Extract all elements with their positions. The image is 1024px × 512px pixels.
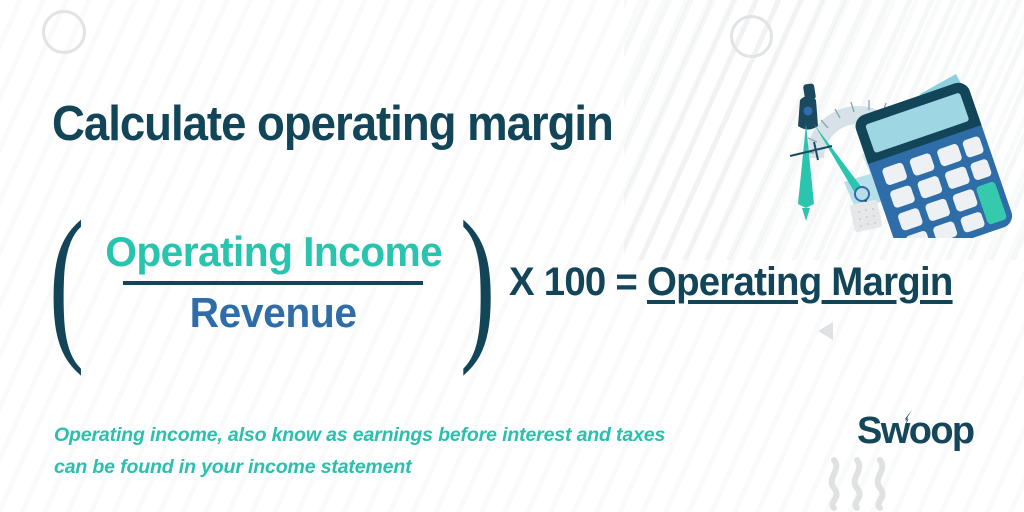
formula-multiplier: X 100 = (509, 260, 647, 304)
logo-wordmark: Swoop (857, 412, 987, 450)
infographic-canvas: Calculate operating margin ( Operating I… (0, 0, 1024, 512)
fraction-bar (123, 281, 423, 285)
decorative-circle-left-icon (42, 10, 86, 54)
decorative-circle-right-icon (730, 15, 773, 58)
fraction-numerator: Operating Income (105, 230, 442, 274)
formula-result: Operating Margin (647, 260, 953, 304)
logo-swoosh-icon (899, 410, 915, 428)
parenthesis-close: ) (460, 215, 496, 349)
brand-logo[interactable]: Swoop (857, 412, 987, 460)
illustration-svg (770, 58, 1024, 238)
parenthesis-open: ( (49, 215, 85, 349)
stationery-illustration (770, 58, 1024, 238)
compass-icon (790, 83, 874, 221)
page-title: Calculate operating margin (52, 96, 613, 152)
fraction-denominator: Revenue (190, 291, 357, 335)
fraction: Operating Income Revenue (81, 230, 465, 335)
caption-text: Operating income, also know as earnings … (54, 420, 694, 483)
eraser-icon (849, 199, 882, 232)
formula-tail: X 100 = Operating Margin (509, 260, 953, 305)
decorative-waves-icon (824, 456, 896, 512)
